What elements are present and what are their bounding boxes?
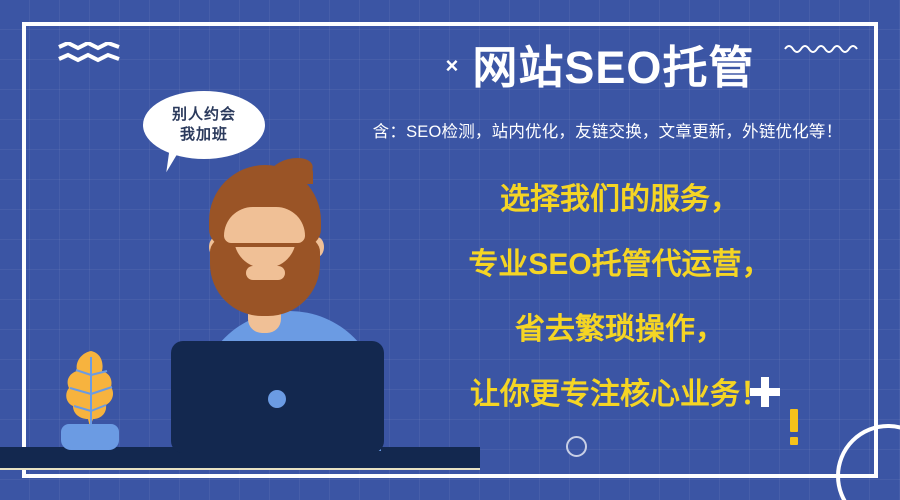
exclamation-bar	[790, 409, 798, 432]
plant-icon	[57, 349, 125, 431]
slogan-line: 让你更专注核心业务！	[400, 380, 840, 410]
speech-bubble: 别人约会 我加班	[143, 91, 265, 159]
wave-icon-top-left	[58, 42, 120, 64]
slogan-line: 专业SEO托管代运营，	[400, 250, 840, 280]
laptop-logo-dot	[268, 390, 286, 408]
title-row: × 网站SEO托管	[330, 44, 870, 91]
exclamation-dot	[790, 437, 798, 445]
person-forehead	[224, 207, 305, 243]
circle-outline-icon-small	[566, 436, 587, 457]
plant-pot	[61, 424, 119, 450]
slogan-line: 选择我们的服务，	[400, 185, 840, 215]
slogan-block: 选择我们的服务， 专业SEO托管代运营， 省去繁琐操作， 让你更专注核心业务！	[400, 185, 840, 410]
speech-bubble-line-2: 我加班	[180, 125, 228, 145]
x-mark-icon: ×	[446, 55, 459, 81]
seo-hosting-poster: 别人约会 我加班 × 网站SEO托管 含：SEO检测，站内优化，友链交换，文章更…	[0, 0, 900, 500]
person-mouth	[246, 266, 285, 280]
speech-bubble-line-1: 别人约会	[172, 105, 236, 125]
desk-edge-line	[0, 468, 480, 470]
slogan-line: 省去繁琐操作，	[400, 315, 840, 345]
exclamation-icon	[790, 409, 798, 445]
page-subtitle: 含：SEO检测，站内优化，友链交换，文章更新，外链优化等！	[330, 118, 885, 142]
page-title: 网站SEO托管	[472, 44, 754, 91]
person-hair-tuft-secondary	[291, 162, 313, 184]
